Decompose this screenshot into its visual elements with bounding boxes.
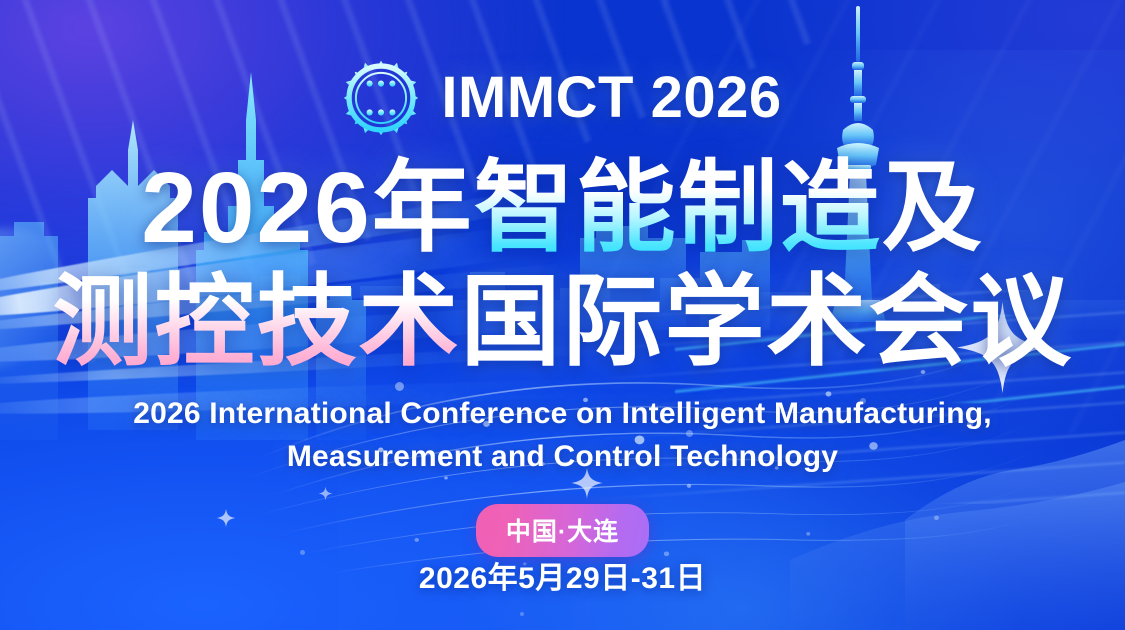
- chinese-title-segment: 及: [882, 152, 984, 264]
- chinese-title-segment-accent: 智能制造: [474, 152, 882, 264]
- location-badge-wrapper: 中国·大连: [0, 504, 1125, 557]
- brand-title: IMMCT 2026: [441, 69, 781, 127]
- chinese-title-line-1: 2026年智能制造及: [0, 158, 1125, 258]
- location-badge: 中国·大连: [476, 504, 649, 557]
- chinese-title-segment: 国际学术会议: [461, 266, 1073, 378]
- gear-circuit-logo-icon: [343, 60, 419, 136]
- chinese-title-line-2: 测控技术国际学术会议: [0, 272, 1125, 372]
- chinese-title-segment: 2026年: [141, 152, 473, 264]
- english-subtitle-line-1: 2026 International Conference on Intelli…: [0, 392, 1125, 435]
- conference-banner: IMMCT 2026 2026年智能制造及 测控技术国际学术会议 2026 In…: [0, 0, 1125, 630]
- conference-date: 2026年5月29日-31日: [0, 553, 1125, 597]
- logo-row: IMMCT 2026: [0, 60, 1125, 136]
- banner-content: IMMCT 2026 2026年智能制造及 测控技术国际学术会议 2026 In…: [0, 0, 1125, 630]
- english-subtitle: 2026 International Conference on Intelli…: [0, 392, 1125, 478]
- english-subtitle-line-2: Measurement and Control Technology: [0, 435, 1125, 478]
- chinese-title-segment-accent: 测控技术: [53, 266, 461, 378]
